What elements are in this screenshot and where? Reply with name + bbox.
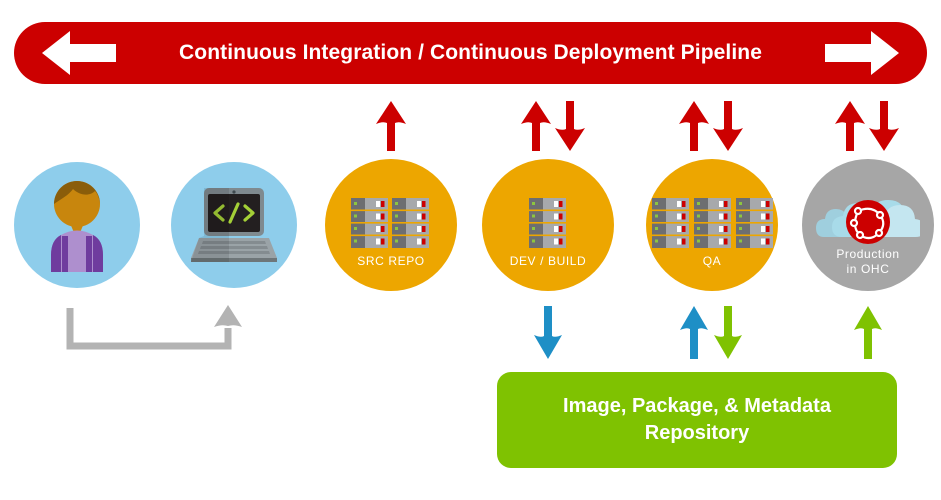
node-developer[interactable] — [14, 162, 140, 288]
repository-box[interactable]: Image, Package, & Metadata Repository — [497, 372, 897, 468]
arrow-down-production — [867, 100, 901, 152]
laptop-code-icon — [189, 186, 279, 264]
node-laptop[interactable] — [171, 162, 297, 288]
node-label-qa: QA — [646, 254, 778, 269]
arrow-down-qa-to-repository — [712, 305, 744, 360]
repository-label: Image, Package, & Metadata Repository — [563, 393, 831, 447]
arrow-down-dev-build-to-repository — [532, 305, 564, 360]
arrow-up-production — [833, 100, 867, 152]
server-rack-icon — [652, 198, 773, 248]
node-src-repo[interactable]: SRC REPO — [325, 159, 457, 291]
node-label-dev-build: DEV / BUILD — [482, 254, 614, 269]
arrow-down-qa — [711, 100, 745, 152]
developer-laptop-loop-arrow — [60, 300, 260, 360]
node-dev-build[interactable]: DEV / BUILD — [482, 159, 614, 291]
node-production-ohc[interactable]: Production in OHC — [802, 159, 934, 291]
arrow-up-qa — [677, 100, 711, 152]
arrow-up-dev-build — [519, 100, 553, 152]
arrow-left-icon — [40, 29, 118, 77]
arrow-up-src-repo — [374, 100, 408, 152]
cloud-openshift-icon — [816, 185, 920, 255]
pipeline-title: Continuous Integration / Continuous Depl… — [179, 41, 762, 65]
person-icon — [40, 180, 114, 272]
arrow-right-icon — [823, 29, 901, 77]
node-qa[interactable]: QA — [646, 159, 778, 291]
node-label-src-repo: SRC REPO — [325, 254, 457, 269]
pipeline-banner: Continuous Integration / Continuous Depl… — [14, 22, 927, 84]
cicd-pipeline-diagram: Continuous Integration / Continuous Depl… — [0, 0, 941, 500]
server-rack-icon — [351, 198, 431, 248]
arrow-down-dev-build — [553, 100, 587, 152]
arrow-up-repository-to-qa — [678, 305, 710, 360]
server-rack-icon — [529, 198, 567, 248]
arrow-up-repository-to-production — [852, 305, 884, 360]
